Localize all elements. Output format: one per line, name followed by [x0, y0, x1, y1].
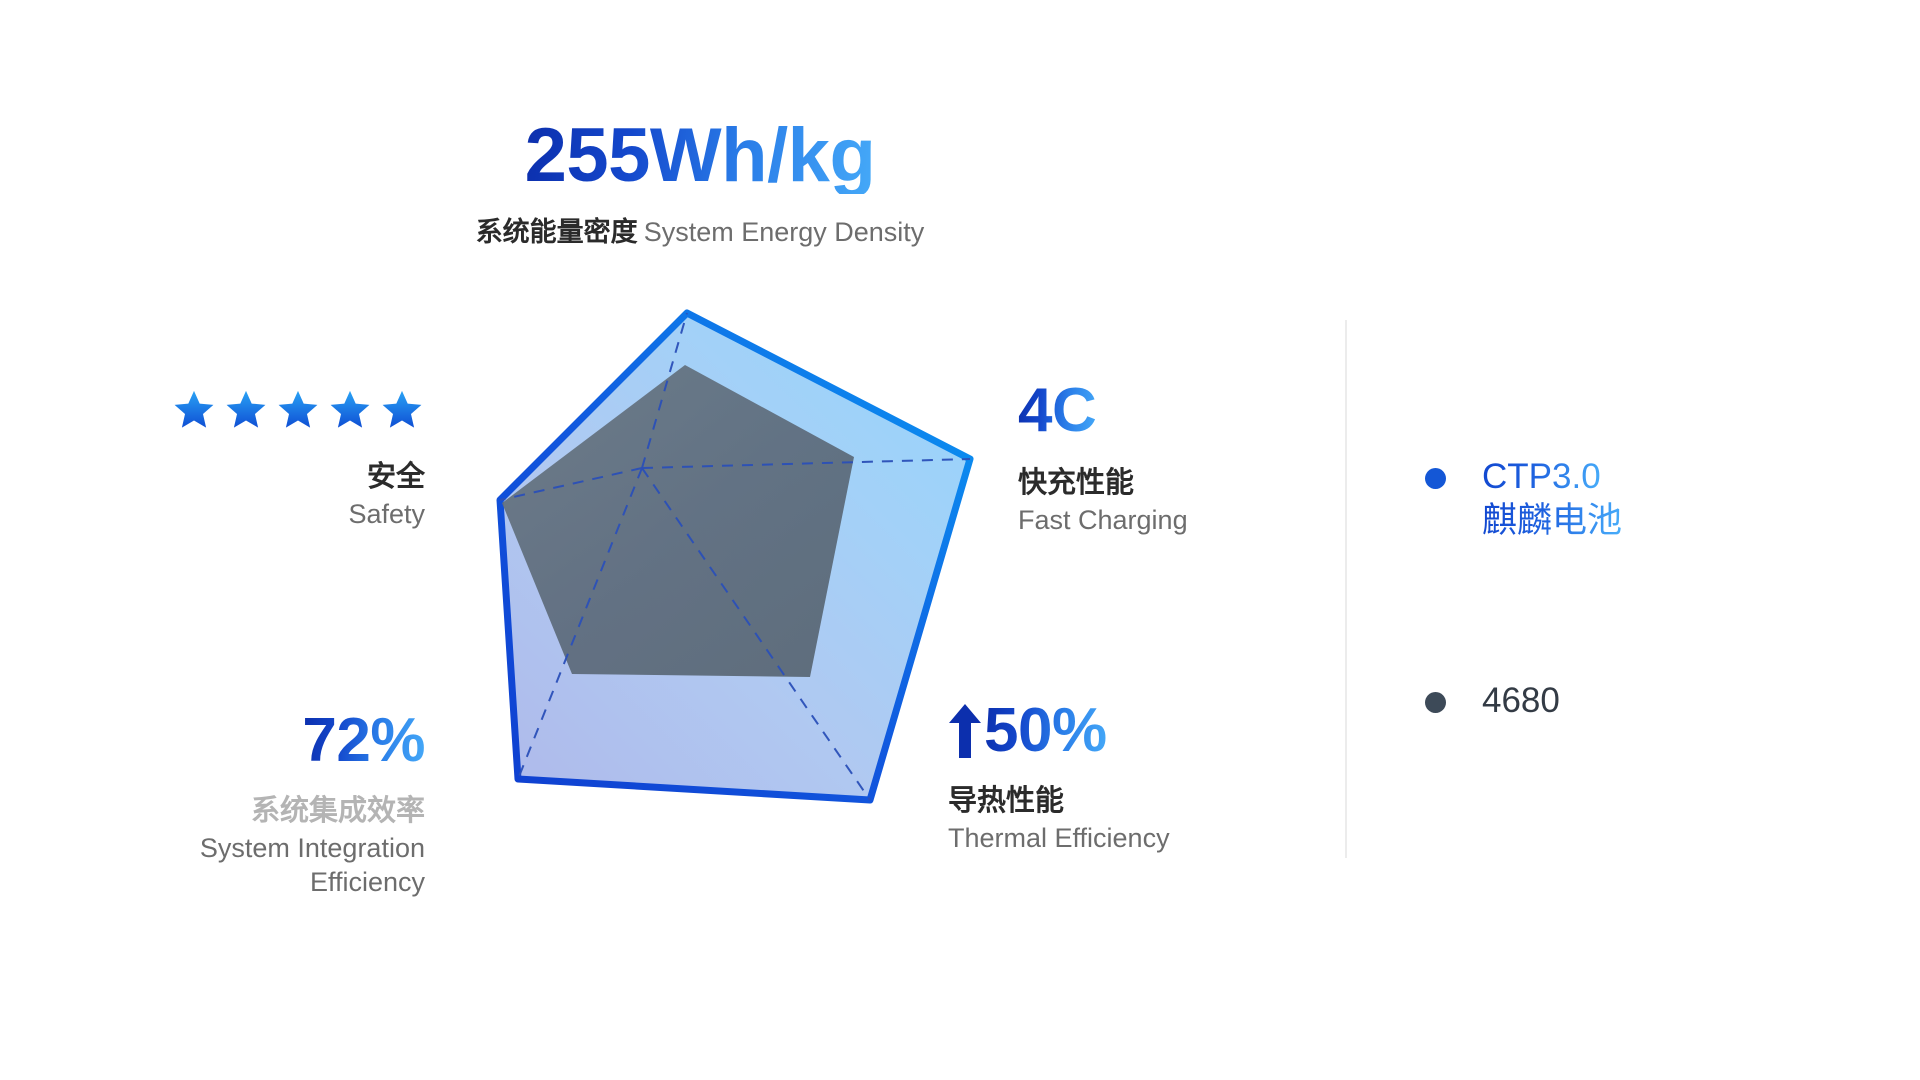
legend-ctp30-line2: 麒麟电池 — [1482, 499, 1622, 543]
star-icon — [327, 388, 373, 432]
star-icon — [171, 388, 217, 432]
energy-density-value: 255Wh/kg — [525, 118, 876, 194]
legend-dot-icon — [1425, 692, 1446, 713]
metric-thermal-efficiency: 50% 导热性能 Thermal Efficiency — [948, 700, 1170, 855]
metric-safety: 安全 Safety — [40, 388, 425, 531]
sie-label-en-line2: Efficiency — [40, 865, 425, 899]
metric-fast-charging: 4C 快充性能 Fast Charging — [1018, 380, 1188, 537]
thermal-label-en: Thermal Efficiency — [948, 821, 1170, 855]
metric-system-integration-efficiency: 72% 系统集成效率 System Integration Efficiency — [40, 710, 425, 899]
legend-item-4680[interactable]: 4680 — [1425, 679, 1622, 723]
energy-density-label: 系统能量密度System Energy Density — [0, 210, 1400, 249]
star-icon — [275, 388, 321, 432]
fast-charging-label-en: Fast Charging — [1018, 503, 1188, 537]
arrow-up-icon — [948, 702, 982, 760]
legend-label-ctp30: CTP3.0 麒麟电池 — [1482, 455, 1622, 543]
thermal-value: 50% — [984, 700, 1107, 762]
legend-ctp30-line1: CTP3.0 — [1482, 455, 1601, 499]
safety-star-rating — [40, 388, 425, 432]
fast-charging-value: 4C — [1018, 380, 1096, 442]
sie-label-en-line1: System Integration — [40, 831, 425, 865]
star-icon — [379, 388, 425, 432]
chart-legend: CTP3.0 麒麟电池 4680 — [1425, 455, 1622, 723]
energy-density-label-en: System Energy Density — [644, 217, 925, 247]
headline-block: 255Wh/kg 系统能量密度System Energy Density — [0, 118, 1400, 249]
legend-dot-icon — [1425, 468, 1446, 489]
safety-label-cn: 安全 — [40, 460, 425, 495]
legend-4680-line1: 4680 — [1482, 681, 1560, 720]
slide-root: 255Wh/kg 系统能量密度System Energy Density — [0, 0, 1920, 1080]
safety-label-en: Safety — [40, 497, 425, 531]
thermal-value-row: 50% — [948, 700, 1170, 762]
fast-charging-label-cn: 快充性能 — [1018, 466, 1188, 501]
sie-label-cn: 系统集成效率 — [40, 794, 425, 829]
star-icon — [223, 388, 269, 432]
thermal-label-cn: 导热性能 — [948, 784, 1170, 819]
energy-density-label-cn: 系统能量密度 — [476, 217, 638, 247]
legend-item-ctp30[interactable]: CTP3.0 麒麟电池 — [1425, 455, 1622, 543]
legend-label-4680: 4680 — [1482, 679, 1560, 723]
vertical-divider — [1345, 320, 1347, 858]
sie-value: 72% — [302, 710, 425, 772]
